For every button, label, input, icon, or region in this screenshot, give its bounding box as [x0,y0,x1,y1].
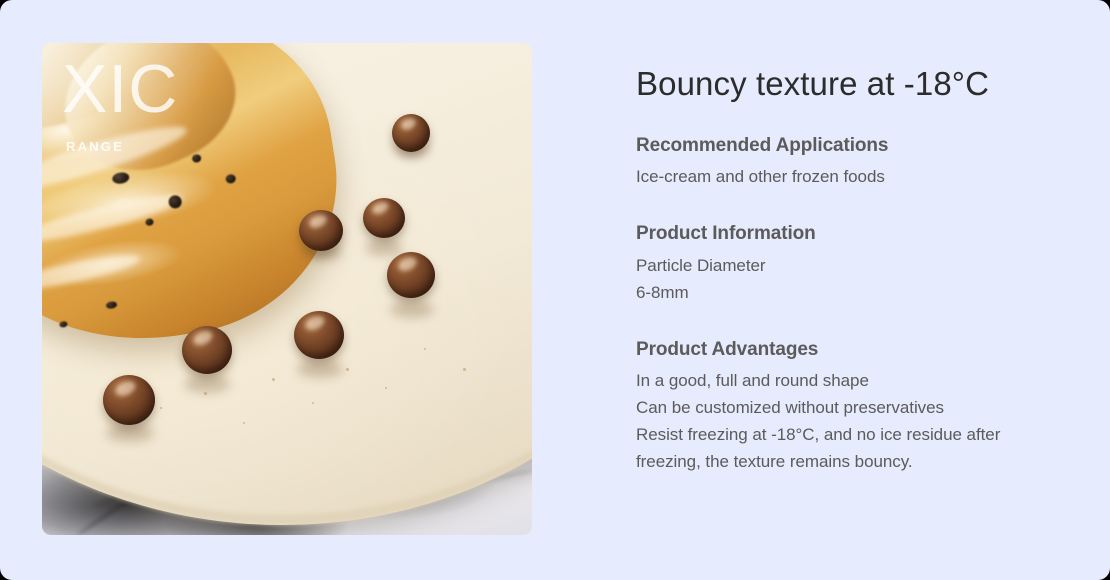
pastry-glaze [42,249,141,297]
pastry-raisin [145,219,154,227]
product-photo: XIC RANGE [42,43,532,535]
section-line: In a good, full and round shape [636,368,1056,395]
section-product-information: Product Information Particle Diameter 6-… [636,220,1056,306]
section-line: freezing, the texture remains bouncy. [636,449,1056,476]
section-heading: Product Advantages [636,336,1056,365]
pastry-raisin [191,154,201,163]
plate-speck [346,368,349,371]
product-details: Bouncy texture at -18°C Recommended Appl… [636,43,1056,475]
plate-speck [312,402,314,404]
plate-speck [160,407,162,409]
page-title: Bouncy texture at -18°C [636,43,1056,103]
pastry-raisin [111,171,130,185]
section-recommended-applications: Recommended Applications Ice-cream and o… [636,132,1056,191]
chocolate-ball [363,198,405,238]
plate-speck [272,378,275,381]
chocolate-ball-shadow [184,375,230,393]
section-line: Can be customized without preservatives [636,395,1056,422]
section-heading: Product Information [636,220,1056,249]
section-line: 6-8mm [636,280,1056,307]
product-card: XIC RANGE Bouncy texture at -18°C Recomm… [0,0,1110,580]
section-line: Resist freezing at -18°C, and no ice res… [636,422,1056,449]
chocolate-ball-shadow [365,240,403,256]
pastry-raisin [224,174,235,184]
pastry-raisin [105,301,117,310]
chocolate-ball [103,375,155,425]
chocolate-ball [182,326,232,374]
pastry-raisin [167,195,182,210]
plate-speck [243,422,245,424]
pastry-glaze [42,188,185,251]
section-product-advantages: Product Advantages In a good, full and r… [636,336,1056,476]
section-line: Ice-cream and other frozen foods [636,164,1056,191]
section-line: Particle Diameter [636,253,1056,280]
section-heading: Recommended Applications [636,132,1056,161]
